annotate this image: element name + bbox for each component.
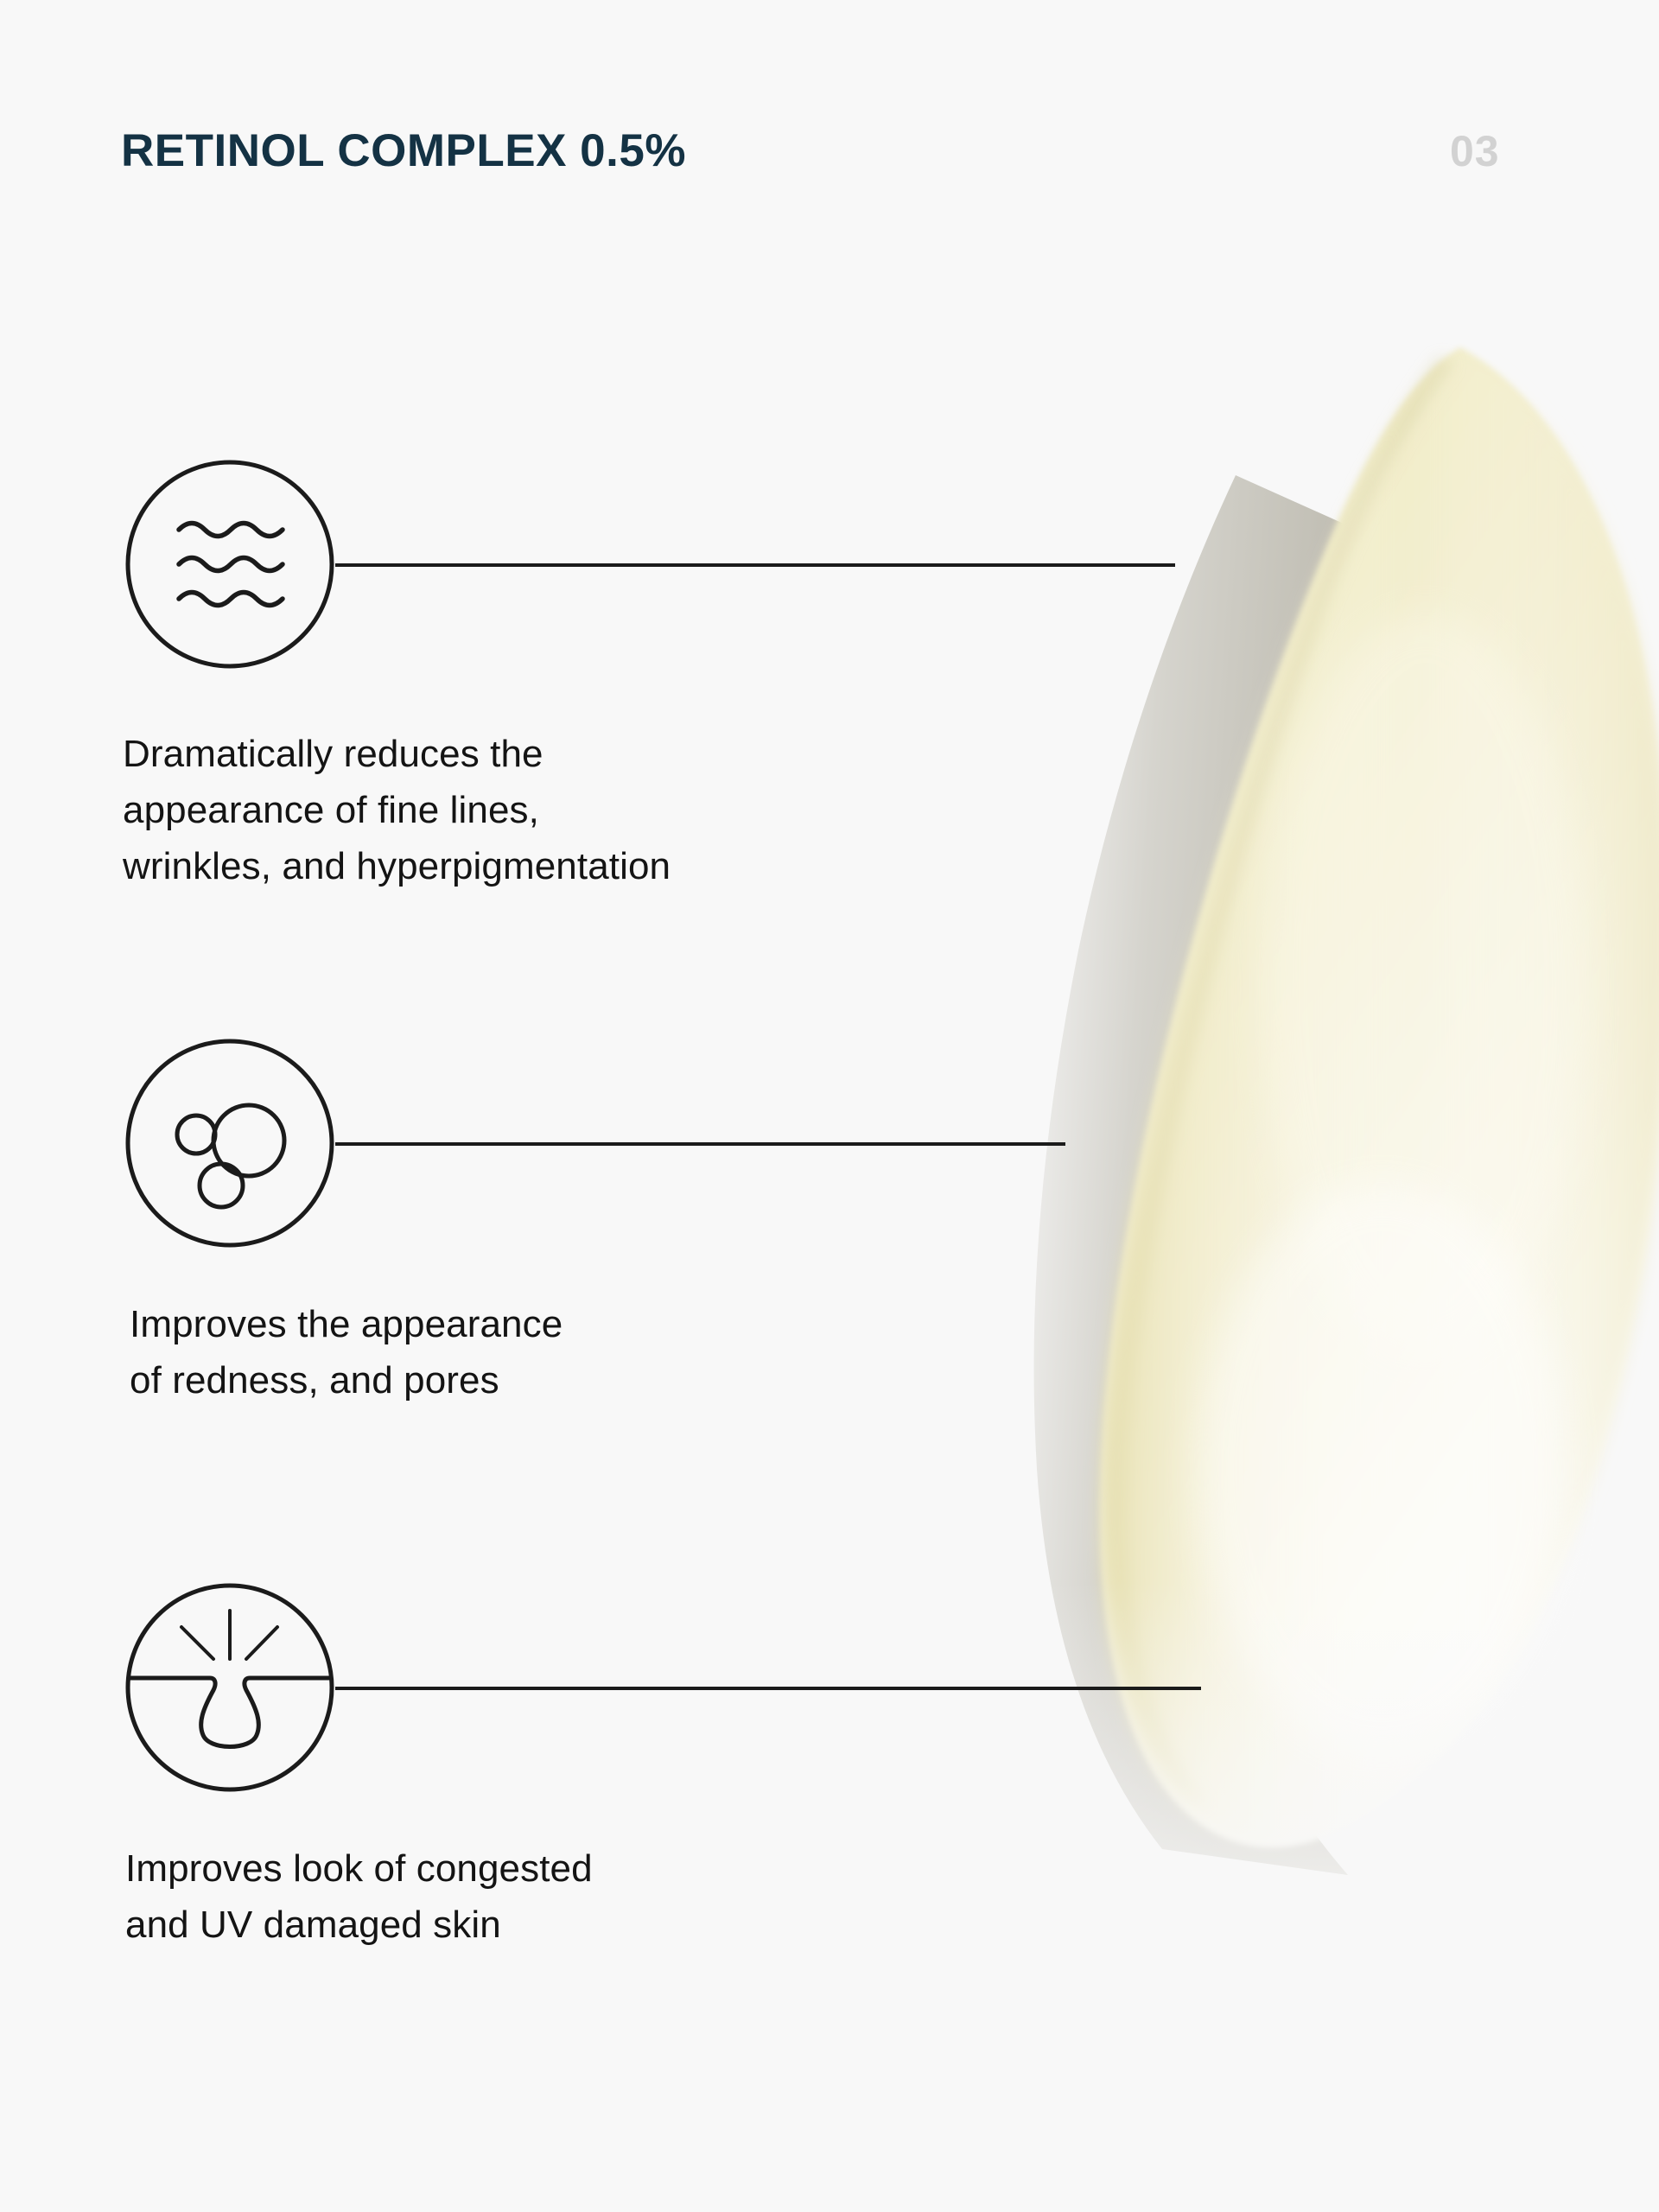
feature-text-line: Improves the appearance (130, 1296, 563, 1352)
feature-text-line: wrinkles, and hyperpigmentation (123, 838, 671, 894)
feature-description: Dramatically reduces the appearance of f… (123, 726, 671, 894)
wavy-lines-icon (124, 458, 336, 671)
pores-circles-icon (124, 1037, 336, 1249)
feature-text-line: Dramatically reduces the (123, 726, 671, 782)
feature-text-line: Improves look of congested (125, 1840, 593, 1897)
page-header: RETINOL COMPLEX 0.5% 03 (0, 0, 1659, 259)
page-number: 03 (1450, 130, 1500, 173)
feature-text-line: and UV damaged skin (125, 1897, 593, 1953)
feature-text-line: appearance of fine lines, (123, 782, 671, 838)
connector-line (335, 1142, 1065, 1146)
pore-follicle-icon (124, 1581, 336, 1794)
connector-line (335, 563, 1175, 567)
page-title: RETINOL COMPLEX 0.5% (121, 128, 686, 174)
feature-text-line: of redness, and pores (130, 1352, 563, 1408)
product-swatch (976, 328, 1659, 1953)
feature-description: Improves look of congested and UV damage… (125, 1840, 593, 1953)
connector-line (335, 1687, 1201, 1690)
feature-description: Improves the appearance of redness, and … (130, 1296, 563, 1408)
